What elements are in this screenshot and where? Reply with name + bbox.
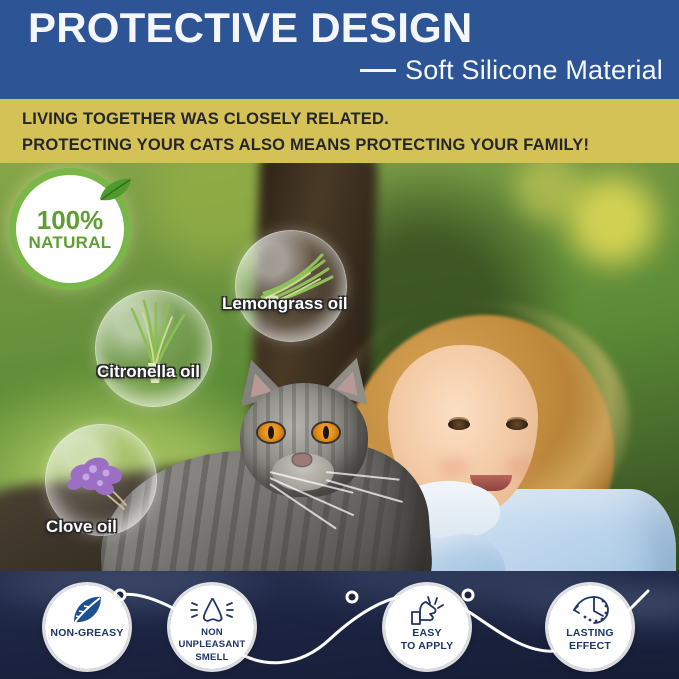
feature-label: NON-GREASY	[50, 628, 123, 639]
girl-eye-right	[506, 419, 528, 430]
cat-ear-inner	[336, 368, 363, 395]
cat-eye-right	[313, 423, 339, 442]
natural-badge-text: 100% NATURAL	[16, 175, 124, 283]
natural-percent: 100%	[37, 207, 104, 234]
feature-label-line-3: SMELL	[195, 653, 228, 663]
leaf-icon	[70, 594, 104, 626]
dash-rule	[360, 69, 396, 72]
feature-badge-easy-to-apply: EASY TO APPLY	[385, 585, 469, 669]
feature-label-line-2: EFFECT	[569, 641, 611, 652]
tagline-line-1: LIVING TOGETHER WAS CLOSELY RELATED.	[22, 107, 679, 133]
tagline-band: LIVING TOGETHER WAS CLOSELY RELATED. PRO…	[0, 99, 679, 163]
ingredient-label-citronella: Citronella oil	[97, 362, 200, 382]
header-subtitle-group: Soft Silicone Material	[360, 55, 663, 86]
header-banner: PROTECTIVE DESIGN Soft Silicone Material	[0, 0, 679, 99]
ingredient-label-clove: Clove oil	[46, 517, 117, 537]
cat-pupil	[323, 426, 329, 439]
natural-word: NATURAL	[29, 234, 112, 251]
feature-badge-non-greasy: NON-GREASY	[45, 585, 129, 669]
girl-eye-left	[448, 419, 470, 430]
cat-pupil	[268, 426, 274, 439]
girl-cheek-right	[506, 457, 536, 477]
feature-badges-band: NON-GREASY NON UNPLEASANT SMELL	[0, 571, 679, 679]
cat-nose	[293, 454, 311, 466]
natural-badge: 100% NATURAL	[16, 175, 124, 283]
lemongrass-stalks-icon	[236, 231, 346, 341]
feature-label-line-2: UNPLEASANT	[179, 640, 246, 650]
feature-badge-non-unpleasant-smell: NON UNPLEASANT SMELL	[170, 585, 254, 669]
product-infographic: PROTECTIVE DESIGN Soft Silicone Material…	[0, 0, 679, 679]
snapping-fingers-icon	[408, 594, 446, 626]
girl-cheek-left	[438, 457, 468, 477]
ingredient-bubble-lemongrass	[235, 230, 347, 342]
cat-eye-left	[258, 423, 284, 442]
ingredient-bubble-citronella	[95, 290, 212, 407]
tagline-line-2: PROTECTING YOUR CATS ALSO MEANS PROTECTI…	[22, 133, 679, 159]
feature-label-line-1: NON	[201, 628, 223, 638]
citronella-stalks-icon	[96, 291, 211, 406]
header-subtitle: Soft Silicone Material	[405, 55, 663, 86]
page-title: PROTECTIVE DESIGN	[28, 6, 472, 50]
feature-label-line-1: EASY	[412, 628, 441, 639]
feature-label-line-2: TO APPLY	[401, 641, 454, 652]
nose-icon	[189, 594, 235, 626]
feature-label-line-1: LASTING	[566, 628, 613, 639]
ingredient-label-lemongrass: Lemongrass oil	[222, 294, 348, 314]
clock-arrow-icon	[570, 594, 610, 626]
feature-badge-lasting-effect: LASTING EFFECT	[548, 585, 632, 669]
